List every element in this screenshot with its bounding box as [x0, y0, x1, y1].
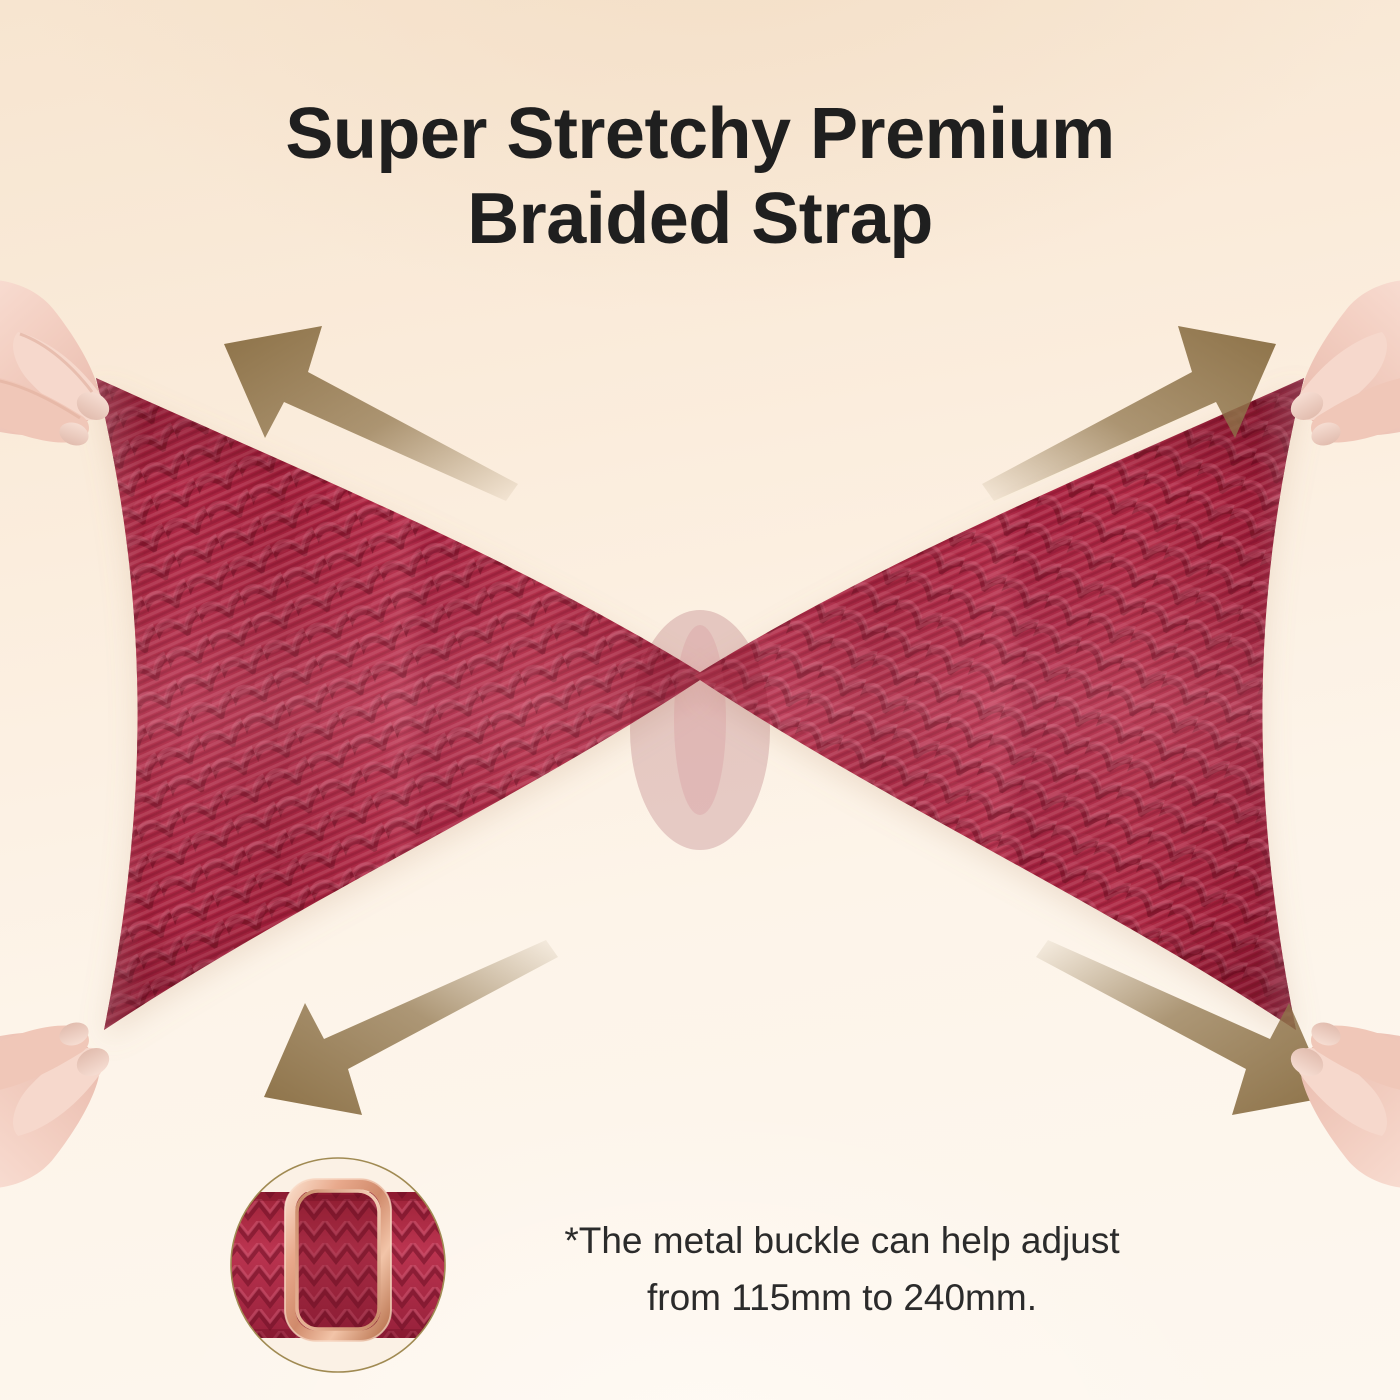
product-image-canvas: Super Stretchy Premium Braided Strap [0, 0, 1400, 1400]
hand-bottom-right [1232, 975, 1400, 1210]
arrow-down-left [258, 940, 568, 1125]
metal-buckle-closeup [229, 1155, 447, 1375]
caption-line-1: *The metal buckle can help adjust [564, 1220, 1119, 1261]
page-title: Super Stretchy Premium Braided Strap [0, 92, 1400, 262]
hand-top-left [0, 258, 168, 493]
headline-line-1: Super Stretchy Premium [285, 94, 1114, 174]
arrow-up-left [218, 316, 528, 501]
hand-bottom-left [0, 975, 168, 1210]
hand-top-right [1232, 258, 1400, 493]
caption-line-2: from 115mm to 240mm. [486, 1269, 1198, 1326]
buckle-caption: *The metal buckle can help adjust from 1… [486, 1212, 1198, 1327]
headline-line-2: Braided Strap [110, 177, 1290, 262]
